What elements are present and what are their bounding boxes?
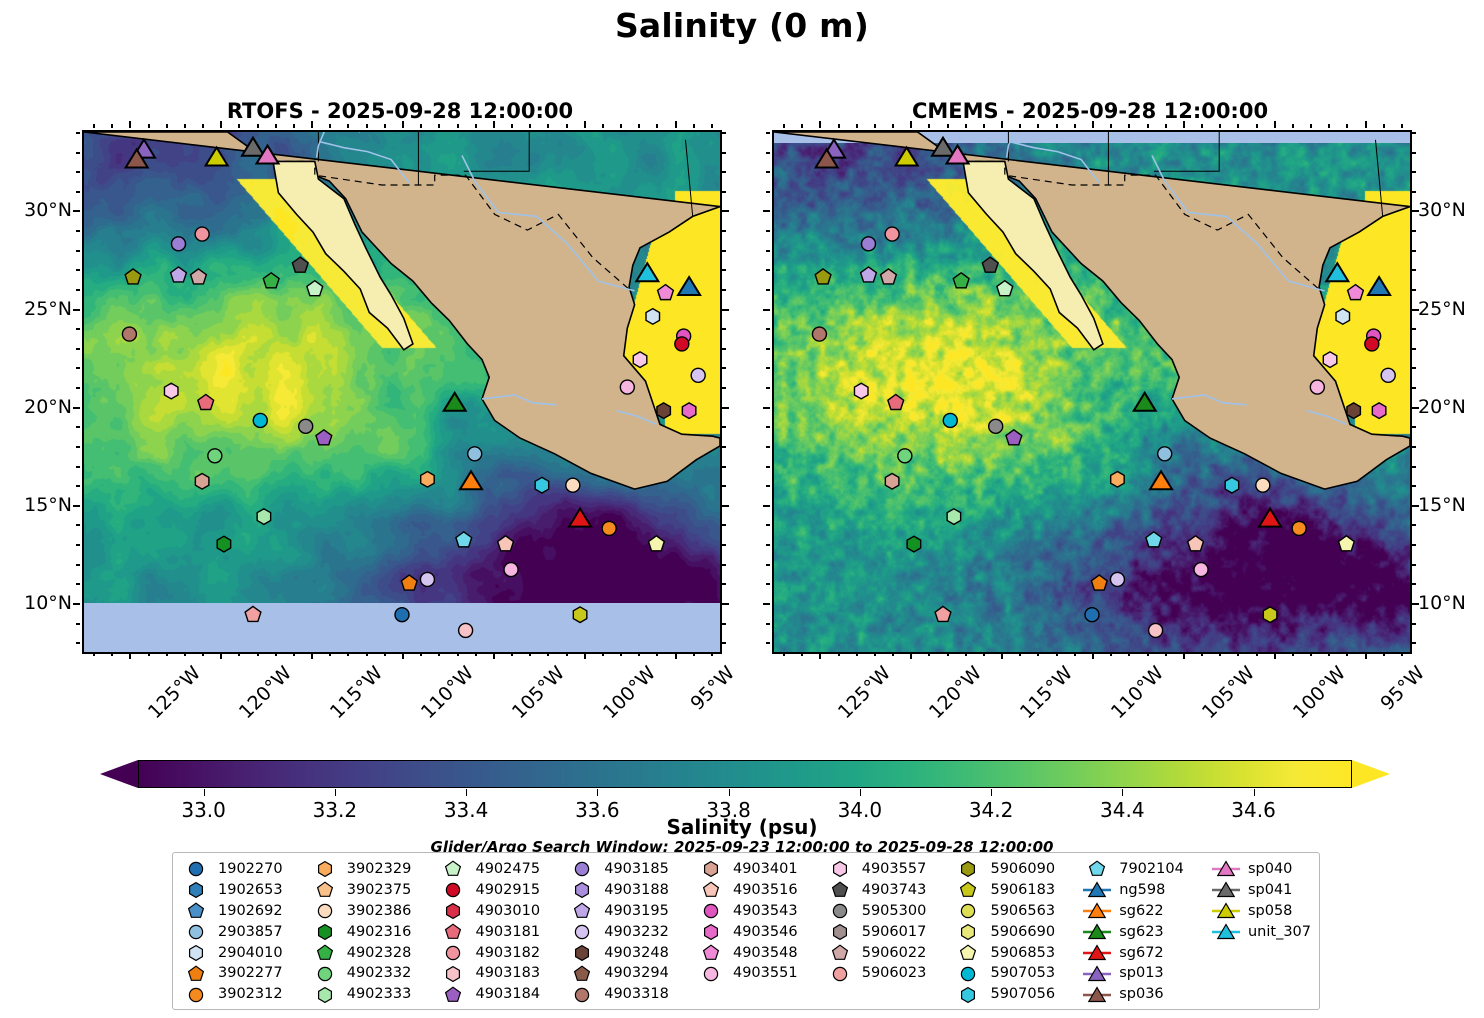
- platform-marker[interactable]: [1149, 623, 1163, 637]
- legend-label: 4902333: [347, 987, 412, 1002]
- platform-marker[interactable]: [815, 269, 831, 284]
- x-tick: [1056, 652, 1058, 656]
- platform-marker[interactable]: [573, 607, 587, 623]
- x-tick: [1147, 652, 1149, 656]
- y-tick-right: [722, 387, 726, 389]
- platform-marker[interactable]: [535, 477, 549, 493]
- platform-marker[interactable]: [1263, 607, 1277, 623]
- platform-marker[interactable]: [195, 227, 209, 241]
- platform-marker[interactable]: [932, 138, 954, 156]
- platform-marker[interactable]: [1259, 509, 1281, 527]
- y-tick-right: [1412, 623, 1416, 625]
- y-tick-right: [1412, 132, 1416, 134]
- legend-item[interactable]: 4902475: [438, 859, 565, 880]
- legend-marker-hexagon-icon: [953, 985, 983, 1005]
- legend-item[interactable]: 4903010: [438, 901, 565, 922]
- platform-marker[interactable]: [460, 471, 482, 489]
- legend-item[interactable]: sp040: [1211, 859, 1311, 880]
- platform-marker[interactable]: [1110, 572, 1124, 586]
- legend-marker-shape: [576, 925, 589, 938]
- legend-item[interactable]: 4903551: [696, 963, 823, 984]
- platform-marker[interactable]: [1292, 521, 1306, 535]
- x-tick-top: [620, 124, 622, 128]
- platform-marker[interactable]: [691, 368, 705, 382]
- legend-item[interactable]: sp036: [1082, 984, 1209, 1005]
- legend-marker-shape: [1090, 862, 1105, 876]
- legend-marker-shape: [705, 862, 718, 877]
- x-tick: [1237, 652, 1239, 656]
- platform-marker[interactable]: [1150, 471, 1172, 489]
- platform-marker[interactable]: [1365, 337, 1379, 351]
- x-tick: [1365, 652, 1367, 659]
- platform-marker[interactable]: [1310, 380, 1324, 394]
- legend-label: 1902270: [218, 862, 283, 877]
- platform-marker[interactable]: [1381, 368, 1395, 382]
- platform-marker[interactable]: [982, 257, 998, 272]
- x-tick-top: [1183, 121, 1185, 128]
- legend-marker-shape: [190, 945, 203, 960]
- x-tick: [1310, 652, 1312, 656]
- x-tick-label: 125°W: [144, 662, 205, 723]
- y-tick-right: [1412, 583, 1416, 585]
- legend-marker-shape: [189, 966, 204, 980]
- legend-item[interactable]: 4903294: [567, 963, 694, 984]
- platform-marker[interactable]: [125, 269, 141, 284]
- x-tick-top: [910, 121, 912, 128]
- platform-marker[interactable]: [1085, 608, 1099, 622]
- platform-marker[interactable]: [299, 419, 313, 433]
- y-tick-right: [722, 544, 726, 546]
- legend-item[interactable]: sg672: [1082, 942, 1209, 963]
- x-tick-label: 120°W: [925, 662, 986, 723]
- platform-marker[interactable]: [989, 419, 1003, 433]
- legend-label: sp036: [1119, 987, 1163, 1002]
- legend-item[interactable]: 5906563: [953, 901, 1080, 922]
- platform-marker[interactable]: [191, 269, 207, 284]
- legend-label: 3902277: [218, 966, 283, 981]
- legend-marker-shape: [318, 905, 331, 918]
- legend-label: 4903185: [604, 862, 669, 877]
- platform-marker[interactable]: [1348, 285, 1364, 300]
- platform-marker[interactable]: [468, 447, 482, 461]
- y-tick-label: 10°N: [0, 592, 72, 614]
- platform-marker[interactable]: [935, 606, 951, 621]
- x-tick: [1274, 652, 1276, 659]
- platform-marker[interactable]: [421, 472, 435, 488]
- x-tick: [329, 652, 331, 656]
- platform-marker[interactable]: [1146, 532, 1162, 547]
- y-tick: [76, 289, 80, 291]
- legend-label: 7902104: [1119, 862, 1184, 877]
- y-tick: [763, 407, 770, 409]
- x-tick: [347, 652, 349, 656]
- legend-item[interactable]: 4903184: [438, 984, 565, 1005]
- legend-marker-triangle-line-icon: [1082, 985, 1112, 1005]
- platform-marker[interactable]: [1091, 575, 1107, 590]
- legend-item[interactable]: 2903857: [181, 922, 308, 943]
- y-tick-right: [1412, 289, 1416, 291]
- platform-marker[interactable]: [401, 575, 417, 590]
- legend-item[interactable]: 5907053: [953, 963, 1080, 984]
- platform-marker[interactable]: [943, 413, 957, 427]
- legend-label: 4903248: [604, 946, 669, 961]
- platform-marker[interactable]: [881, 269, 897, 284]
- legend-item[interactable]: 5906690: [953, 922, 1080, 943]
- legend-marker-shape: [961, 882, 976, 896]
- platform-marker[interactable]: [997, 281, 1013, 296]
- y-tick: [766, 191, 770, 193]
- legend-item[interactable]: 3902277: [181, 963, 308, 984]
- x-tick-top: [711, 124, 713, 128]
- legend-item[interactable]: 5906023: [825, 963, 952, 984]
- platform-marker[interactable]: [420, 572, 434, 586]
- x-tick: [166, 652, 168, 656]
- legend-item[interactable]: 4903185: [567, 859, 694, 880]
- y-tick-right: [722, 328, 726, 330]
- y-tick-right: [722, 367, 726, 369]
- y-tick: [766, 623, 770, 625]
- legend-item[interactable]: 4902333: [310, 984, 437, 1005]
- legend-marker-hexagon-icon: [825, 922, 855, 942]
- x-tick: [856, 652, 858, 656]
- legend-label: 5907056: [990, 987, 1055, 1002]
- x-tick: [220, 652, 222, 659]
- platform-marker[interactable]: [456, 532, 472, 547]
- platform-marker[interactable]: [898, 449, 912, 463]
- x-tick: [783, 652, 785, 656]
- platform-marker[interactable]: [195, 473, 209, 489]
- legend-label: 4903195: [604, 904, 669, 919]
- legend-marker-shape: [447, 884, 460, 897]
- legend-item[interactable]: 4903183: [438, 963, 565, 984]
- legend-item[interactable]: sg623: [1082, 922, 1209, 943]
- y-tick-label-right: 15°N: [1418, 494, 1484, 516]
- legend-label: sg672: [1119, 946, 1163, 961]
- legend-item[interactable]: 3902312: [181, 984, 308, 1005]
- legend-item[interactable]: 4903557: [825, 859, 952, 880]
- platform-marker[interactable]: [885, 227, 899, 241]
- legend-marker-shape: [833, 925, 846, 940]
- y-tick: [766, 269, 770, 271]
- legend-marker-shape: [575, 903, 590, 917]
- legend-item[interactable]: 4903188: [567, 880, 694, 901]
- legend-label: 5907053: [990, 966, 1055, 981]
- x-tick-top: [184, 124, 186, 128]
- y-tick-right: [722, 309, 729, 311]
- x-tick-top: [166, 124, 168, 128]
- x-tick: [1019, 652, 1021, 656]
- colorbar-extend-min: [100, 760, 138, 788]
- legend-item[interactable]: 3902375: [310, 880, 437, 901]
- platform-marker[interactable]: [245, 606, 261, 621]
- legend-marker-hexagon-icon: [953, 859, 983, 879]
- legend-item[interactable]: 2904010: [181, 942, 308, 963]
- y-tick: [766, 171, 770, 173]
- y-tick: [766, 642, 770, 644]
- platform-marker[interactable]: [307, 281, 323, 296]
- x-tick: [838, 652, 840, 656]
- legend-marker-shape: [575, 966, 590, 980]
- platform-marker[interactable]: [1372, 403, 1386, 419]
- legend-label: 2904010: [218, 946, 283, 961]
- legend-label: 4902316: [347, 925, 412, 940]
- platform-marker[interactable]: [907, 536, 921, 552]
- legend-marker-hexagon-icon: [310, 859, 340, 879]
- x-tick: [1328, 652, 1330, 656]
- platform-marker[interactable]: [444, 393, 466, 411]
- legend-marker-shape: [962, 967, 975, 980]
- y-tick-right: [1412, 250, 1416, 252]
- platform-marker[interactable]: [657, 403, 671, 419]
- x-tick-top: [293, 124, 295, 128]
- colorbar[interactable]: 33.033.233.433.633.834.034.234.434.6: [100, 760, 1390, 788]
- platform-marker[interactable]: [812, 327, 826, 341]
- legend-item[interactable]: 4903516: [696, 880, 823, 901]
- y-tick-right: [1412, 485, 1416, 487]
- legend-item[interactable]: 7902104: [1082, 859, 1209, 880]
- platform-marker[interactable]: [649, 536, 665, 551]
- platform-marker[interactable]: [1134, 393, 1156, 411]
- y-tick: [766, 132, 770, 134]
- platform-marker[interactable]: [459, 623, 473, 637]
- y-tick-label: 25°N: [0, 298, 72, 320]
- y-tick: [76, 583, 80, 585]
- legend-item[interactable]: sp013: [1082, 963, 1209, 984]
- platform-marker[interactable]: [242, 138, 264, 156]
- x-tick-top: [838, 124, 840, 128]
- platform-marker[interactable]: [1323, 352, 1337, 368]
- platform-marker[interactable]: [122, 327, 136, 341]
- y-tick-right: [722, 623, 726, 625]
- y-tick: [76, 564, 80, 566]
- platform-marker-layer[interactable]: [84, 132, 720, 652]
- platform-marker[interactable]: [1006, 430, 1022, 445]
- legend-marker-shape: [446, 924, 461, 938]
- legend-item[interactable]: 4903743: [825, 880, 952, 901]
- y-tick-right: [722, 230, 726, 232]
- platform-marker[interactable]: [620, 380, 634, 394]
- platform-marker[interactable]: [206, 148, 228, 166]
- x-tick: [693, 652, 695, 656]
- x-tick-top: [475, 124, 477, 128]
- legend-item[interactable]: 1902270: [181, 859, 308, 880]
- x-tick: [1110, 652, 1112, 656]
- legend-item[interactable]: 4902328: [310, 942, 437, 963]
- y-tick-right: [1412, 524, 1416, 526]
- platform-marker[interactable]: [316, 430, 332, 445]
- x-tick: [129, 652, 131, 659]
- platform-marker[interactable]: [854, 383, 868, 399]
- legend-label: 4903551: [733, 966, 798, 981]
- platform-marker[interactable]: [896, 148, 918, 166]
- legend-item[interactable]: 1902653: [181, 880, 308, 901]
- x-tick-top: [693, 124, 695, 128]
- legend-item[interactable]: 4903248: [567, 942, 694, 963]
- platform-legend[interactable]: 1902270190265319026922903857290401039022…: [172, 852, 1320, 1010]
- legend-item[interactable]: sp041: [1211, 880, 1311, 901]
- platform-marker[interactable]: [198, 394, 214, 409]
- platform-marker[interactable]: [566, 478, 580, 492]
- map-panel-cmems[interactable]: [772, 130, 1412, 654]
- legend-item[interactable]: unit_307: [1211, 922, 1311, 943]
- x-tick-top: [965, 124, 967, 128]
- platform-marker[interactable]: [675, 337, 689, 351]
- legend-item[interactable]: 5906853: [953, 942, 1080, 963]
- y-tick: [766, 250, 770, 252]
- platform-marker[interactable]: [1225, 477, 1239, 493]
- platform-marker[interactable]: [569, 509, 591, 527]
- legend-marker-hexagon-icon: [953, 922, 983, 942]
- x-tick-label: 110°W: [1107, 662, 1168, 723]
- platform-marker[interactable]: [164, 383, 178, 399]
- x-tick: [874, 652, 876, 656]
- legend-label: 4903401: [733, 862, 798, 877]
- legend-marker-shape: [447, 946, 460, 959]
- legend-item[interactable]: 4902316: [310, 922, 437, 943]
- platform-marker[interactable]: [1347, 403, 1361, 419]
- platform-marker[interactable]: [498, 536, 514, 551]
- x-tick-label: 120°W: [235, 662, 296, 723]
- y-tick-right: [722, 505, 729, 507]
- platform-marker[interactable]: [861, 237, 875, 251]
- platform-marker[interactable]: [1336, 309, 1350, 325]
- legend-item[interactable]: 4902915: [438, 880, 565, 901]
- platform-marker[interactable]: [171, 267, 187, 282]
- legend-label: 1902653: [218, 883, 283, 898]
- legend-item[interactable]: 5905300: [825, 901, 952, 922]
- platform-marker[interactable]: [1326, 263, 1348, 281]
- legend-marker-hexagon-icon: [567, 943, 597, 963]
- legend-label: 4903318: [604, 987, 669, 1002]
- platform-marker[interactable]: [646, 309, 660, 325]
- platform-marker[interactable]: [395, 608, 409, 622]
- platform-marker[interactable]: [263, 273, 279, 288]
- x-tick-label: 110°W: [417, 662, 478, 723]
- legend-item[interactable]: 5907056: [953, 984, 1080, 1005]
- platform-marker[interactable]: [1339, 536, 1355, 551]
- platform-marker[interactable]: [953, 273, 969, 288]
- legend-item[interactable]: 3902386: [310, 901, 437, 922]
- legend-marker-shape: [189, 925, 202, 938]
- platform-marker[interactable]: [633, 352, 647, 368]
- platform-marker[interactable]: [658, 285, 674, 300]
- platform-marker[interactable]: [636, 263, 658, 281]
- platform-marker[interactable]: [861, 267, 877, 282]
- legend-item[interactable]: 5906022: [825, 942, 952, 963]
- platform-marker[interactable]: [171, 237, 185, 251]
- x-tick-top: [1019, 124, 1021, 128]
- x-tick-top: [983, 124, 985, 128]
- legend-marker-circle-icon: [953, 901, 983, 921]
- x-tick: [148, 652, 150, 656]
- x-tick-top: [1237, 124, 1239, 128]
- platform-marker[interactable]: [1188, 536, 1204, 551]
- legend-item[interactable]: sg622: [1082, 901, 1209, 922]
- platform-marker[interactable]: [504, 563, 518, 577]
- y-tick-right: [1412, 446, 1416, 448]
- legend-item[interactable]: ng598: [1082, 880, 1209, 901]
- x-tick: [1292, 652, 1294, 656]
- legend-marker-triangle-line-icon: [1082, 880, 1112, 900]
- map-panel-rtofs[interactable]: [82, 130, 722, 654]
- colorbar-tick: [204, 789, 205, 796]
- legend-marker-pentagon-icon: [567, 901, 597, 921]
- legend-item[interactable]: 4903546: [696, 922, 823, 943]
- x-tick: [910, 652, 912, 659]
- platform-marker[interactable]: [1158, 447, 1172, 461]
- legend-item[interactable]: 3902329: [310, 859, 437, 880]
- platform-marker[interactable]: [257, 509, 271, 525]
- platform-marker[interactable]: [1368, 277, 1390, 295]
- legend-marker-pentagon-icon: [181, 964, 211, 984]
- platform-marker[interactable]: [1194, 563, 1208, 577]
- legend-item[interactable]: 4902332: [310, 963, 437, 984]
- platform-marker[interactable]: [602, 521, 616, 535]
- y-tick: [763, 309, 770, 311]
- x-tick-top: [1401, 124, 1403, 128]
- legend-label: 5906183: [990, 883, 1055, 898]
- legend-item[interactable]: 4903401: [696, 859, 823, 880]
- x-tick-top: [1201, 124, 1203, 128]
- legend-marker-shape: [318, 925, 331, 940]
- platform-marker[interactable]: [217, 536, 231, 552]
- legend-item[interactable]: 4903548: [696, 942, 823, 963]
- legend-item[interactable]: 5906183: [953, 880, 1080, 901]
- legend-item[interactable]: 1902692: [181, 901, 308, 922]
- platform-marker[interactable]: [1256, 478, 1270, 492]
- x-tick-top: [257, 124, 259, 128]
- legend-item[interactable]: 4903195: [567, 901, 694, 922]
- legend-item[interactable]: 4903543: [696, 901, 823, 922]
- legend-item[interactable]: 4903181: [438, 922, 565, 943]
- x-tick: [202, 652, 204, 656]
- platform-marker[interactable]: [885, 473, 899, 489]
- legend-item[interactable]: 5906090: [953, 859, 1080, 880]
- x-tick: [511, 652, 513, 656]
- legend-marker-pentagon-icon: [310, 880, 340, 900]
- platform-marker[interactable]: [208, 449, 222, 463]
- x-tick: [620, 652, 622, 656]
- platform-marker-layer[interactable]: [774, 132, 1410, 652]
- legend-item[interactable]: 4903182: [438, 942, 565, 963]
- legend-label: 4903181: [475, 925, 540, 940]
- x-tick: [111, 652, 113, 656]
- legend-label: 4902915: [475, 883, 540, 898]
- x-tick-top: [1328, 124, 1330, 128]
- legend-marker-shape: [704, 882, 719, 896]
- legend-item[interactable]: 4903232: [567, 922, 694, 943]
- platform-marker[interactable]: [292, 257, 308, 272]
- legend-item[interactable]: 5906017: [825, 922, 952, 943]
- platform-marker[interactable]: [678, 277, 700, 295]
- x-tick-label: 95°W: [1376, 662, 1429, 715]
- x-tick-label: 125°W: [834, 662, 895, 723]
- legend-marker-pentagon-icon: [1082, 859, 1112, 879]
- colorbar-gradient: [138, 760, 1352, 788]
- platform-marker[interactable]: [947, 509, 961, 525]
- legend-item[interactable]: 4903318: [567, 984, 694, 1005]
- y-tick: [766, 426, 770, 428]
- x-tick-top: [801, 124, 803, 128]
- platform-marker[interactable]: [1111, 472, 1125, 488]
- y-tick-label-right: 30°N: [1418, 199, 1484, 221]
- platform-marker[interactable]: [682, 403, 696, 419]
- x-tick: [947, 652, 949, 656]
- platform-marker[interactable]: [253, 413, 267, 427]
- platform-marker[interactable]: [888, 394, 904, 409]
- x-tick: [293, 652, 295, 656]
- legend-item[interactable]: sp058: [1211, 901, 1311, 922]
